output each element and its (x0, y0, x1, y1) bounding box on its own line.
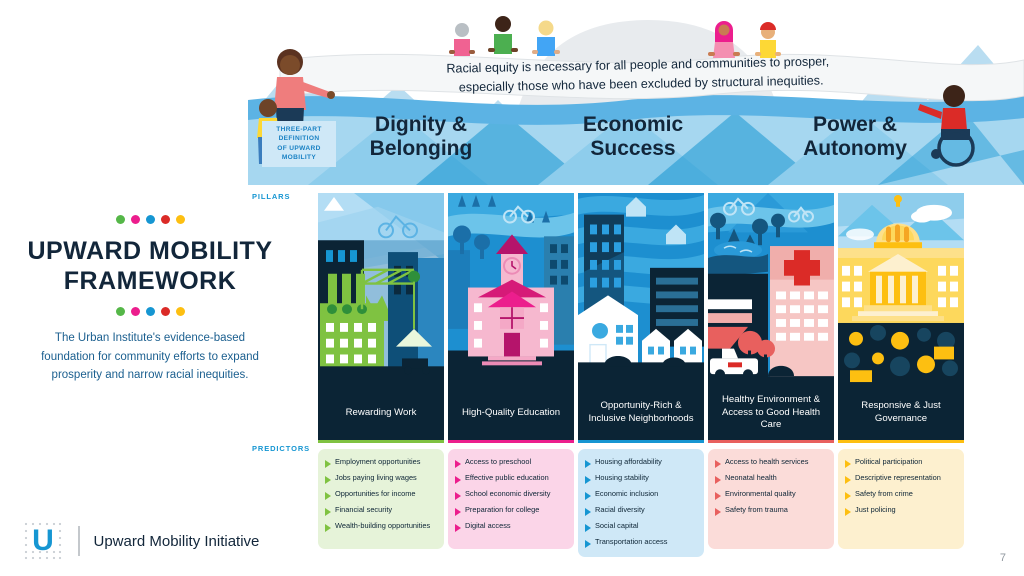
triangle-bullet-icon (325, 476, 331, 484)
predictor-label: Transportation access (595, 537, 667, 547)
triangle-bullet-icon (325, 524, 331, 532)
hospital-ambulance-illustration (708, 193, 834, 386)
predictor-item[interactable]: School economic diversity (455, 489, 568, 500)
predictor-label: Opportunities for income (335, 489, 416, 499)
predictor-item[interactable]: Economic inclusion (585, 489, 698, 500)
predictor-item[interactable]: Access to preschool (455, 457, 568, 468)
category-line1: Economic (583, 113, 683, 136)
dot-magenta (131, 215, 140, 224)
predictor-label: Employment opportunities (335, 457, 420, 467)
pillar-accent-rule (448, 440, 574, 443)
triangle-bullet-icon (455, 524, 461, 532)
footer-divider (78, 526, 80, 556)
predictor-item[interactable]: Transportation access (585, 537, 698, 548)
predictor-label: Racial diversity (595, 505, 645, 515)
triangle-bullet-icon (845, 508, 851, 516)
triangle-bullet-icon (845, 492, 851, 500)
predictor-label: Access to preschool (465, 457, 531, 467)
predictor-label: Housing stability (595, 473, 649, 483)
dot-yellow (176, 215, 185, 224)
predictor-item[interactable]: Environmental quality (715, 489, 828, 500)
category-line2: Success (590, 137, 675, 160)
predictor-item[interactable]: Wealth-building opportunities (325, 521, 438, 532)
pillar-column-health-care[interactable]: Healthy Environment & Access to Good Hea… (708, 193, 834, 443)
predictor-item[interactable]: Preparation for college (455, 505, 568, 516)
dot-red (161, 215, 170, 224)
pillar-art-health-care (708, 193, 834, 386)
triangle-bullet-icon (585, 492, 591, 500)
pillar-art-governance (838, 193, 964, 386)
label-predictors: PREDICTORS (252, 444, 310, 453)
pillar-name: High-Quality Education (448, 386, 574, 440)
predictor-label: Housing affordability (595, 457, 662, 467)
dot-green (116, 215, 125, 224)
predictor-item[interactable]: Social capital (585, 521, 698, 532)
predictor-item[interactable]: Effective public education (455, 473, 568, 484)
pillar-name: Opportunity-Rich & Inclusive Neighborhoo… (578, 386, 704, 440)
triangle-bullet-icon (325, 508, 331, 516)
dot-red (161, 307, 170, 316)
pillar-accent-rule (318, 440, 444, 443)
pillar-name: Rewarding Work (318, 386, 444, 440)
footer-title: Upward Mobility Initiative (94, 533, 260, 550)
triangle-bullet-icon (455, 460, 461, 468)
pillar-column-high-quality-education[interactable]: High-Quality Education (448, 193, 574, 443)
triangle-bullet-icon (585, 460, 591, 468)
category-line1: Power & (813, 113, 897, 136)
header-banner-region: Dignity & Belonging Economic Success Pow… (248, 0, 1024, 185)
predictor-item[interactable]: Political participation (845, 457, 958, 468)
pillar-accent-rule (838, 440, 964, 443)
pillar-name: Healthy Environment & Access to Good Hea… (708, 386, 834, 440)
triangle-bullet-icon (455, 508, 461, 516)
page-subtitle: The Urban Institute's evidence-based fou… (0, 329, 300, 385)
dot-row-top (0, 215, 300, 224)
pillar-column-governance[interactable]: Responsive & Just Governance (838, 193, 964, 443)
pillar-accent-rule (578, 440, 704, 443)
triangle-bullet-icon (455, 492, 461, 500)
school-building-illustration (448, 193, 574, 386)
predictor-box-high-quality-education: Access to preschool Effective public edu… (448, 449, 574, 549)
predictor-label: School economic diversity (465, 489, 550, 499)
predictor-item[interactable]: Employment opportunities (325, 457, 438, 468)
category-power-autonomy: Power & Autonomy (760, 113, 950, 160)
pillar-name: Responsive & Just Governance (838, 386, 964, 440)
predictor-label: Political participation (855, 457, 922, 467)
predictor-item[interactable]: Neonatal health (715, 473, 828, 484)
predictor-label: Access to health services (725, 457, 808, 467)
predictor-label: Social capital (595, 521, 639, 531)
dot-yellow (176, 307, 185, 316)
predictor-label: Preparation for college (465, 505, 539, 515)
page-number: 7 (1000, 552, 1006, 564)
urban-institute-logo: U (22, 520, 64, 562)
predictor-box-health-care: Access to health services Neonatal healt… (708, 449, 834, 549)
predictor-label: Economic inclusion (595, 489, 658, 499)
predictor-item[interactable]: Racial diversity (585, 505, 698, 516)
triangle-bullet-icon (585, 540, 591, 548)
pillar-column-neighborhoods[interactable]: Opportunity-Rich & Inclusive Neighborhoo… (578, 193, 704, 443)
left-title-panel: UPWARD MOBILITY FRAMEWORK The Urban Inst… (0, 215, 300, 385)
pillar-column-rewarding-work[interactable]: Rewarding Work (318, 193, 444, 443)
tpd-line4: MOBILITY (264, 153, 334, 162)
footer: U Upward Mobility Initiative (22, 520, 259, 562)
predictor-label: Safety from trauma (725, 505, 788, 515)
predictor-item[interactable]: Safety from trauma (715, 505, 828, 516)
dot-blue (146, 307, 155, 316)
neighborhood-illustration (578, 193, 704, 386)
tpd-line3: OF UPWARD (264, 144, 334, 153)
label-pillars: PILLARS (252, 192, 290, 201)
factory-crane-illustration (318, 193, 444, 386)
predictor-item[interactable]: Housing stability (585, 473, 698, 484)
predictor-item[interactable]: Opportunities for income (325, 489, 438, 500)
predictor-label: Environmental quality (725, 489, 796, 499)
triangle-bullet-icon (845, 460, 851, 468)
predictor-item[interactable]: Access to health services (715, 457, 828, 468)
predictor-label: Neonatal health (725, 473, 777, 483)
predictor-item[interactable]: Just policing (845, 505, 958, 516)
capitol-building-illustration (838, 193, 964, 386)
predictor-item[interactable]: Jobs paying living wages (325, 473, 438, 484)
predictor-box-neighborhoods: Housing affordability Housing stability … (578, 449, 704, 557)
slide-root: Dignity & Belonging Economic Success Pow… (0, 0, 1024, 576)
pillar-art-rewarding-work (318, 193, 444, 386)
triangle-bullet-icon (585, 524, 591, 532)
category-line2: Autonomy (803, 137, 907, 160)
predictor-label: Just policing (855, 505, 896, 515)
predictor-label: Effective public education (465, 473, 549, 483)
predictor-item[interactable]: Financial security (325, 505, 438, 516)
dot-green (116, 307, 125, 316)
predictor-item[interactable]: Digital access (455, 521, 568, 532)
category-economic-success: Economic Success (538, 113, 728, 160)
predictor-label: Wealth-building opportunities (335, 521, 430, 531)
category-dignity-belonging: Dignity & Belonging (326, 113, 516, 160)
triangle-bullet-icon (585, 476, 591, 484)
pillar-art-high-quality-education (448, 193, 574, 386)
predictor-label: Safety from crime (855, 489, 913, 499)
triangle-bullet-icon (845, 476, 851, 484)
pillar-accent-rule (708, 440, 834, 443)
title-line2: FRAMEWORK (64, 267, 237, 295)
triangle-bullet-icon (585, 508, 591, 516)
tpd-line2: DEFINITION (264, 134, 334, 143)
predictor-item[interactable]: Safety from crime (845, 489, 958, 500)
page-title: UPWARD MOBILITY FRAMEWORK (0, 237, 300, 296)
predictor-box-rewarding-work: Employment opportunities Jobs paying liv… (318, 449, 444, 549)
triangle-bullet-icon (455, 476, 461, 484)
triangle-bullet-icon (715, 476, 721, 484)
triangle-bullet-icon (715, 508, 721, 516)
predictor-boxes: Employment opportunities Jobs paying liv… (318, 449, 966, 557)
dot-blue (146, 215, 155, 224)
triangle-bullet-icon (325, 460, 331, 468)
predictor-label: Descriptive representation (855, 473, 941, 483)
three-part-definition-callout: THREE-PART DEFINITION OF UPWARD MOBILITY (262, 121, 336, 167)
predictor-item[interactable]: Housing affordability (585, 457, 698, 468)
logo-letter-u: U (32, 526, 54, 556)
tpd-line1: THREE-PART (264, 125, 334, 134)
pillar-columns: Rewarding Work (318, 193, 966, 443)
predictor-label: Financial security (335, 505, 392, 515)
category-line1: Dignity & (375, 113, 467, 136)
triangle-bullet-icon (325, 492, 331, 500)
predictor-item[interactable]: Descriptive representation (845, 473, 958, 484)
dot-magenta (131, 307, 140, 316)
dot-row-bottom (0, 307, 300, 316)
predictor-label: Jobs paying living wages (335, 473, 417, 483)
pillar-art-neighborhoods (578, 193, 704, 386)
triangle-bullet-icon (715, 492, 721, 500)
category-line2: Belonging (370, 137, 473, 160)
triangle-bullet-icon (715, 460, 721, 468)
predictor-box-governance: Political participation Descriptive repr… (838, 449, 964, 549)
title-line1: UPWARD MOBILITY (28, 237, 273, 265)
predictor-label: Digital access (465, 521, 511, 531)
